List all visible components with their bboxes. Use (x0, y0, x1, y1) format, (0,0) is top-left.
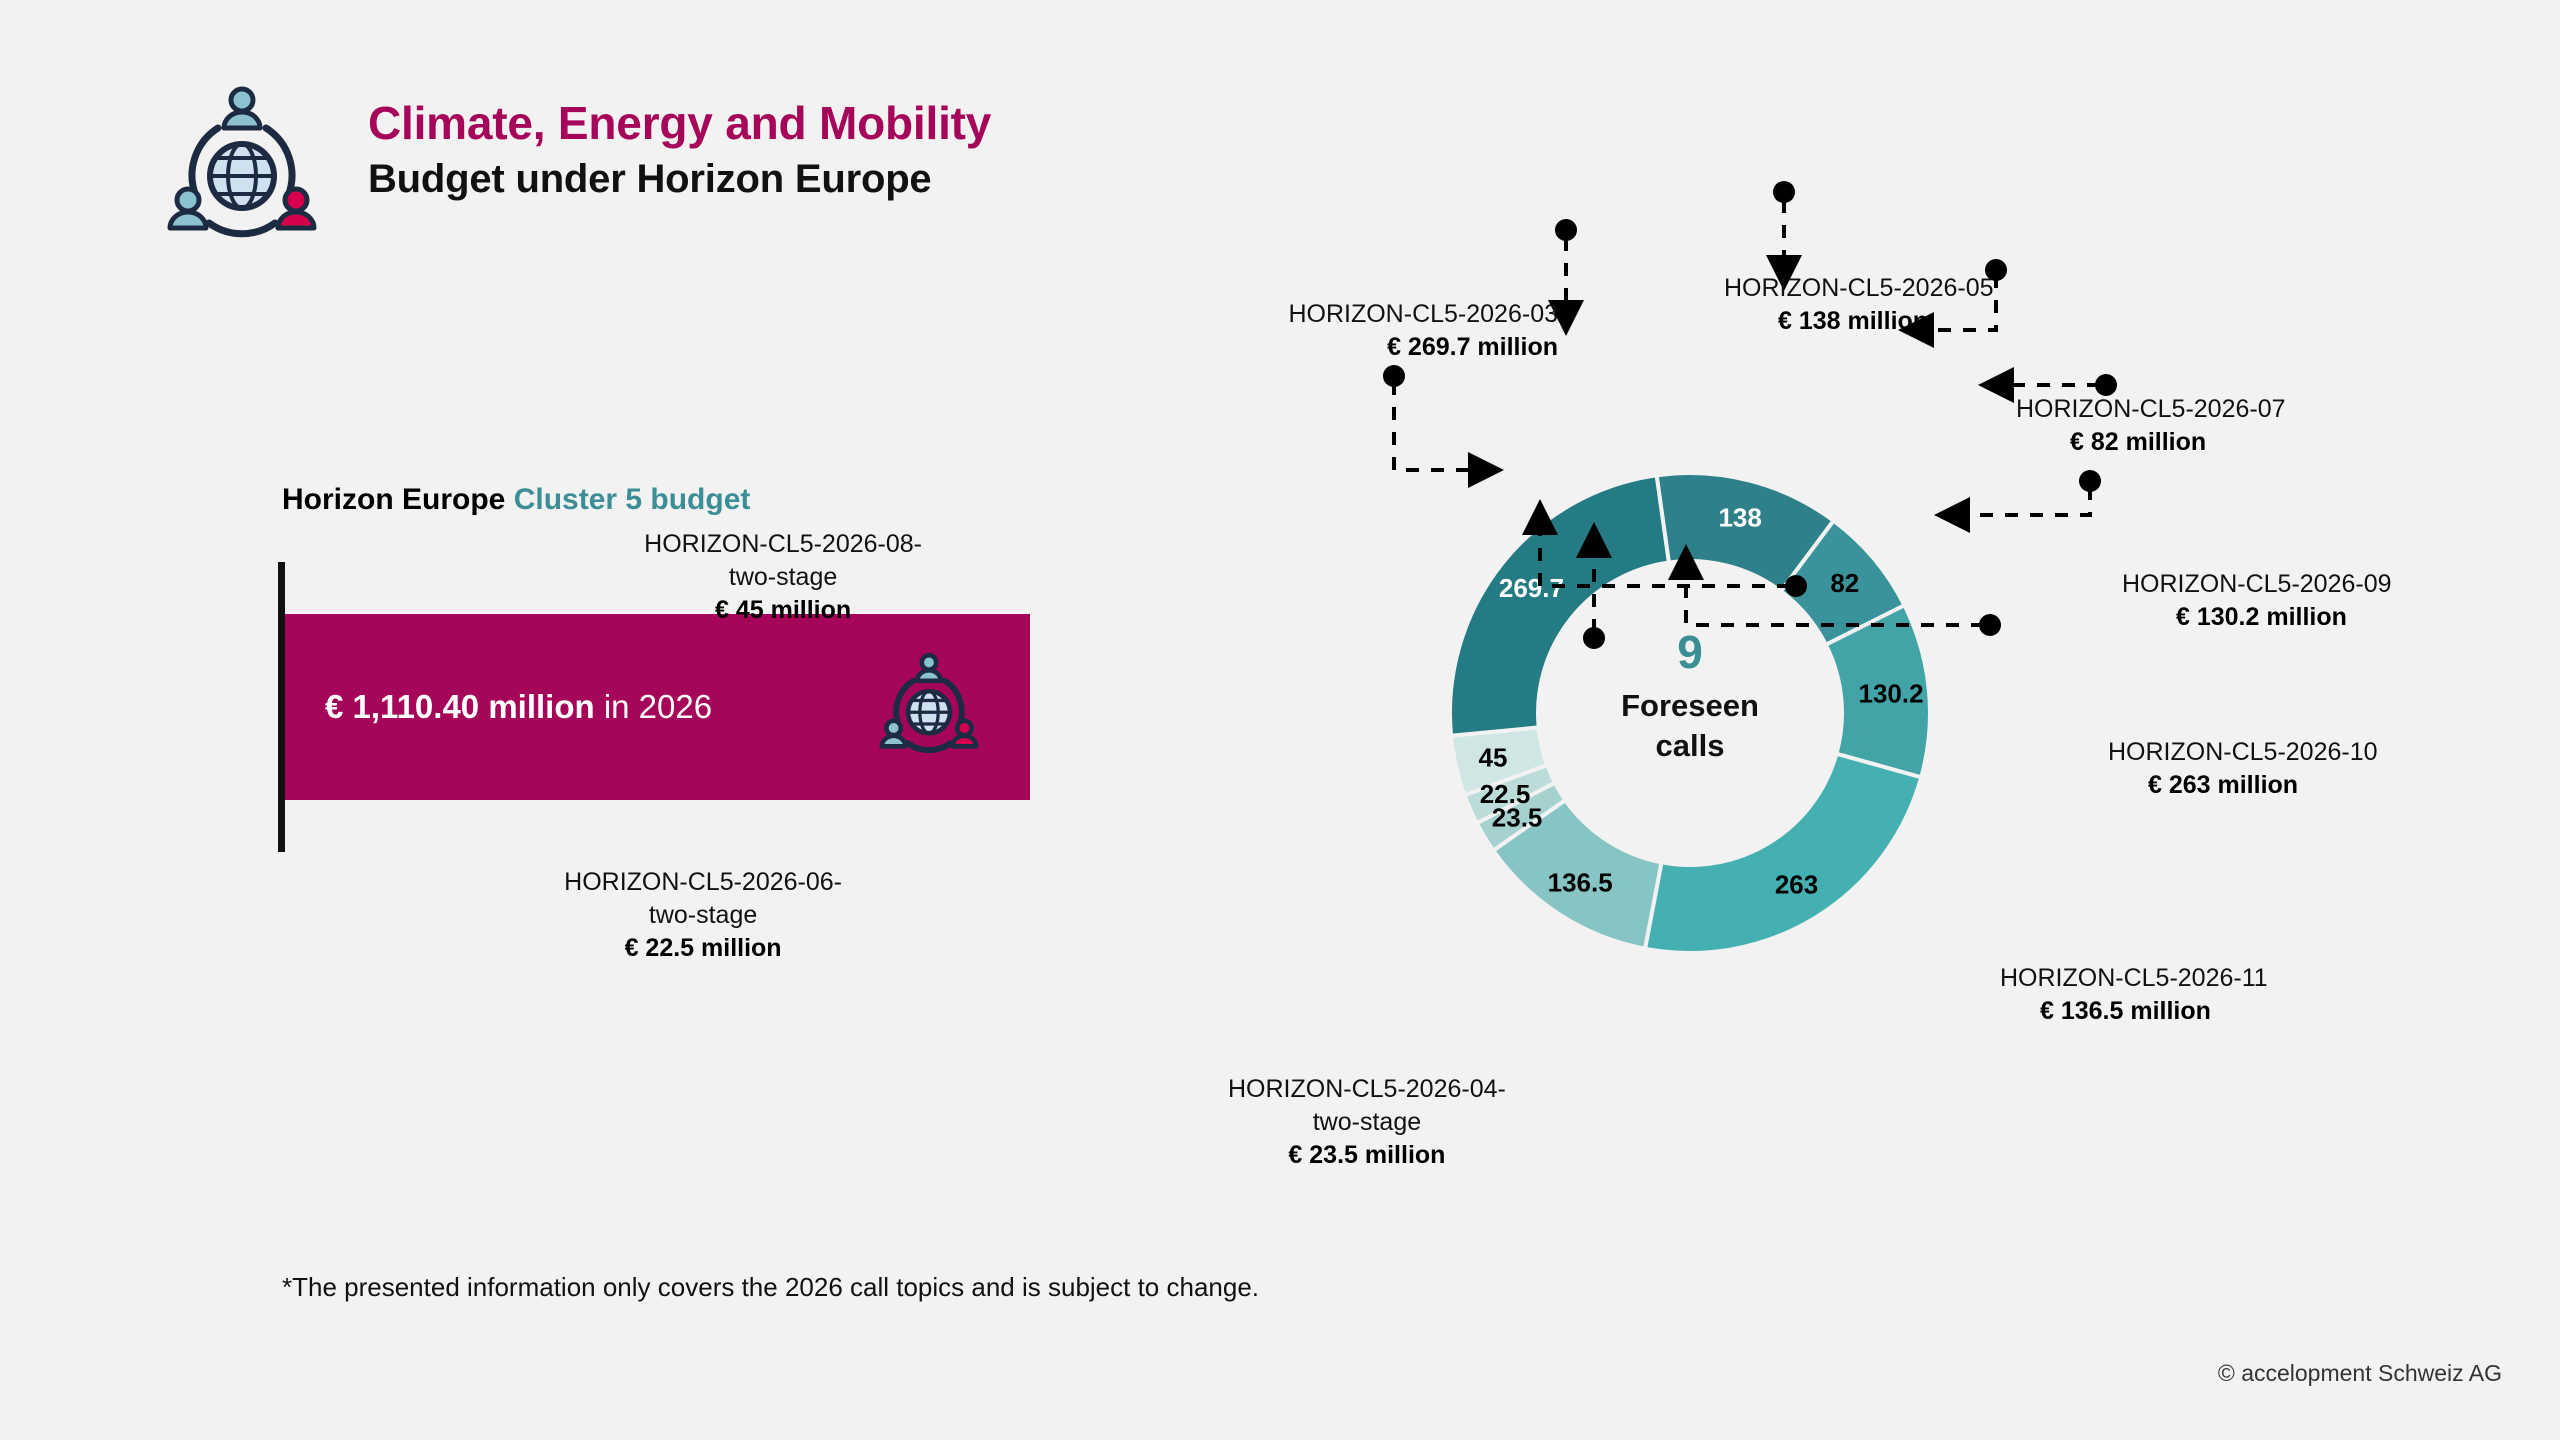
callout-horizon-cl5-2026-10: HORIZON-CL5-2026-10 € 263 million (2108, 736, 2378, 802)
budget-heading-prefix: Horizon Europe (282, 483, 505, 516)
budget-amount-suffix: in 2026 (595, 688, 712, 725)
globe-network-icon (870, 648, 988, 766)
copyright: © accelopment Schweiz AG (2218, 1360, 2502, 1387)
callout-id: HORIZON-CL5-2026-09 (2122, 568, 2392, 601)
donut-slice-value: 136.5 (1548, 868, 1613, 898)
callout-amount: € 45 million (644, 594, 922, 627)
header-text-block: Climate, Energy and Mobility Budget unde… (368, 98, 991, 202)
callout-horizon-cl5-2026-04: HORIZON-CL5-2026-04- two-stage € 23.5 mi… (1228, 1073, 1506, 1172)
callout-id: HORIZON-CL5-2026-04- (1228, 1073, 1506, 1106)
callout-amount: € 82 million (2070, 426, 2286, 459)
donut-slice-value: 138 (1718, 502, 1761, 532)
callout-horizon-cl5-2026-05: HORIZON-CL5-2026-05 € 138 million (1724, 272, 1994, 338)
donut-slice-value: 263 (1775, 870, 1818, 900)
callout-id: HORIZON-CL5-2026-07 (2016, 393, 2286, 426)
callout-horizon-cl5-2026-09: HORIZON-CL5-2026-09 € 130.2 million (2122, 568, 2392, 634)
budget-bar-value: € 1,110.40 million in 2026 (325, 688, 712, 726)
callout-amount: € 263 million (2148, 769, 2378, 802)
budget-axis-line (278, 562, 285, 852)
callout-id: HORIZON-CL5-2026-11 (2000, 962, 2268, 995)
budget-heading-accent: Cluster 5 budget (514, 483, 751, 516)
callout-amount: € 136.5 million (2040, 995, 2268, 1028)
callout-id: HORIZON-CL5-2026-05 (1724, 272, 1994, 305)
callout-id: HORIZON-CL5-2026-03 (1288, 298, 1558, 331)
callout-id: HORIZON-CL5-2026-06- (564, 866, 842, 899)
budget-amount: € 1,110.40 million (325, 688, 595, 725)
budget-bar: € 1,110.40 million in 2026 (285, 614, 1030, 800)
callout-stage: two-stage (1228, 1106, 1506, 1139)
callout-amount: € 269.7 million (1288, 331, 1558, 364)
page-title: Climate, Energy and Mobility (368, 98, 991, 150)
donut-center-label-line1: Foreseen (1621, 688, 1759, 723)
donut-slice-value: 45 (1479, 743, 1508, 773)
footnote: *The presented information only covers t… (282, 1272, 1259, 1303)
callout-amount: € 23.5 million (1228, 1139, 1506, 1172)
callout-horizon-cl5-2026-08: HORIZON-CL5-2026-08- two-stage € 45 mill… (644, 528, 922, 627)
donut-slice-value: 82 (1830, 568, 1859, 598)
donut-slice-value: 22.5 (1480, 779, 1531, 809)
callout-stage: two-stage (564, 899, 842, 932)
callout-amount: € 138 million (1778, 305, 1994, 338)
page-subtitle: Budget under Horizon Europe (368, 156, 991, 202)
callout-horizon-cl5-2026-07: HORIZON-CL5-2026-07 € 82 million (2016, 393, 2286, 459)
callout-amount: € 130.2 million (2176, 601, 2392, 634)
callout-horizon-cl5-2026-03: HORIZON-CL5-2026-03 € 269.7 million (1288, 298, 1558, 364)
donut-center-count: 9 (1677, 626, 1703, 678)
callout-horizon-cl5-2026-06: HORIZON-CL5-2026-06- two-stage € 22.5 mi… (564, 866, 842, 965)
infographic-canvas: Climate, Energy and Mobility Budget unde… (0, 0, 2560, 1440)
callout-stage: two-stage (644, 561, 922, 594)
callout-id: HORIZON-CL5-2026-08- (644, 528, 922, 561)
donut-chart: 13882130.2263136.523.522.545269.7 9 Fore… (1340, 408, 2040, 1018)
donut-slice-value: 269.7 (1499, 573, 1564, 603)
globe-network-icon (152, 78, 332, 258)
callout-id: HORIZON-CL5-2026-10 (2108, 736, 2378, 769)
callout-amount: € 22.5 million (564, 932, 842, 965)
donut-center-label-line2: calls (1656, 728, 1725, 763)
callout-horizon-cl5-2026-11: HORIZON-CL5-2026-11 € 136.5 million (2000, 962, 2268, 1028)
budget-heading: Horizon Europe Cluster 5 budget (282, 483, 750, 517)
donut-slice-value: 130.2 (1859, 678, 1924, 708)
